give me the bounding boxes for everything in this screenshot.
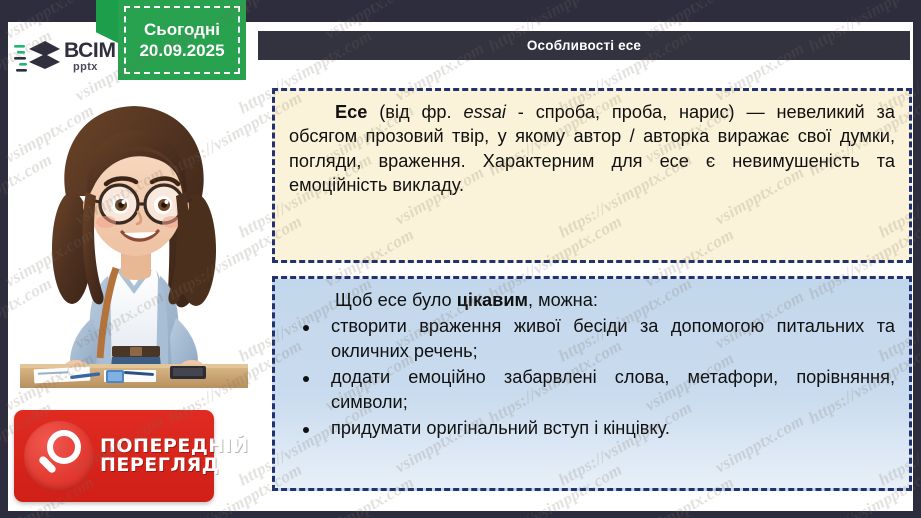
tips-lead-after: , можна: — [528, 290, 598, 310]
tips-list: створити враження живої бесіди за допомо… — [289, 314, 895, 440]
slide-title-bar: Особливості есе — [258, 31, 910, 60]
badge-label: Сьогодні — [144, 19, 220, 40]
definition-box: Есе (від фр. essai - спроба, проба, нари… — [272, 88, 912, 263]
definition-term: Есе — [335, 102, 367, 122]
graduation-cap-icon — [14, 36, 60, 76]
list-item: створити враження живої бесіди за допомо… — [289, 314, 895, 363]
tips-box: Щоб есе було цікавим, можна: створити вр… — [272, 276, 912, 491]
logo-subtext: pptx — [73, 62, 116, 73]
list-item: придумати оригінальний вступ і кінцівку. — [289, 416, 895, 440]
slide-root: ВСІМ pptx Сьогодні 20.09.2025 Особливост… — [0, 0, 921, 518]
tips-lead: Щоб есе було цікавим, можна: — [289, 288, 895, 312]
badge-date: 20.09.2025 — [139, 40, 224, 61]
magnifier-icon — [24, 421, 94, 491]
tips-lead-bold: цікавим — [457, 290, 528, 310]
logo-wordmark: ВСІМ — [64, 40, 116, 61]
page-title: Особливості есе — [527, 38, 641, 53]
today-date-badge: Сьогодні 20.09.2025 — [118, 0, 246, 80]
definition-part1: (від фр. — [367, 102, 463, 122]
brand-logo: ВСІМ pptx — [14, 30, 124, 82]
definition-italic: essai — [463, 102, 505, 122]
tips-lead-before: Щоб есе було — [335, 290, 457, 310]
list-item: додати емоційно забарвлені слова, метафо… — [289, 365, 895, 414]
teacher-illustration — [20, 78, 248, 388]
preview-label-line2: ПЕРЕГЛЯД — [100, 456, 249, 475]
definition-text: Есе (від фр. essai - спроба, проба, нари… — [289, 100, 895, 198]
preview-button[interactable]: ПОПЕРЕДНІЙ ПЕРЕГЛЯД — [14, 410, 214, 502]
